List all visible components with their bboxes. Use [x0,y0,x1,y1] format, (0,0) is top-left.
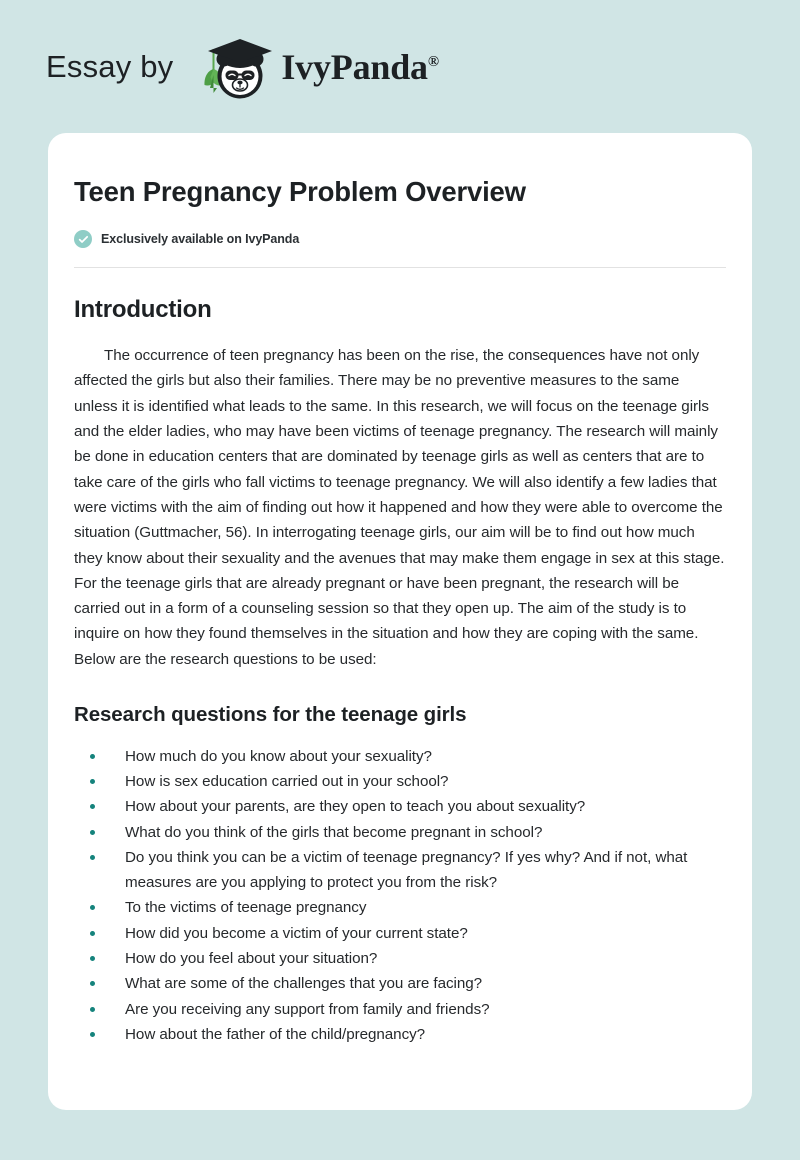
list-item: How is sex education carried out in your… [74,769,726,794]
list-item: Are you receiving any support from famil… [74,997,726,1022]
essay-card: Teen Pregnancy Problem Overview Exclusiv… [48,133,752,1110]
brand-header: Essay by [0,0,800,133]
introduction-paragraph: The occurrence of teen pregnancy has bee… [74,343,726,672]
list-item: What do you think of the girls that beco… [74,820,726,845]
ivypanda-logo-link[interactable]: IvyPanda® [191,31,438,103]
section-heading-introduction: Introduction [74,296,726,325]
page-title: Teen Pregnancy Problem Overview [74,175,726,209]
check-circle-icon [74,230,92,248]
list-item: How about your parents, are they open to… [74,794,726,819]
title-divider [74,267,726,268]
list-item: How much do you know about your sexualit… [74,744,726,769]
research-questions-list: How much do you know about your sexualit… [74,744,726,1048]
exclusive-availability-badge: Exclusively available on IvyPanda [74,230,726,248]
list-item: How did you become a victim of your curr… [74,921,726,946]
essay-by-label: Essay by [46,51,173,82]
brand-wordmark: IvyPanda® [281,49,438,85]
panda-graduate-logo-icon [191,31,279,103]
brand-name-text: IvyPanda [281,47,427,87]
section-heading-research-questions: Research questions for the teenage girls [74,702,726,728]
list-item: How do you feel about your situation? [74,946,726,971]
list-item: To the victims of teenage pregnancy [74,895,726,920]
registered-trademark-symbol: ® [428,54,439,70]
list-item: Do you think you can be a victim of teen… [74,845,726,896]
list-item: How about the father of the child/pregna… [74,1022,726,1047]
exclusive-badge-label: Exclusively available on IvyPanda [101,232,299,246]
list-item: What are some of the challenges that you… [74,971,726,996]
